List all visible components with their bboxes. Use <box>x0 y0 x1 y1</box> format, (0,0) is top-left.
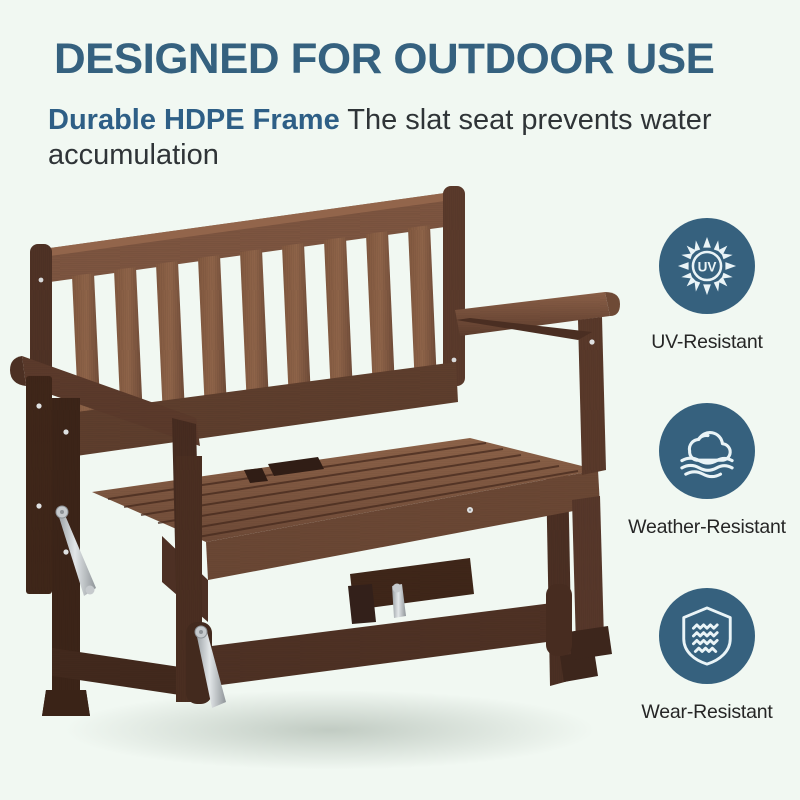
uv-badge-text: UV <box>698 259 717 274</box>
cloud-wind-icon <box>659 403 755 499</box>
uv-sun-icon: UV <box>659 218 755 314</box>
ground-shadow <box>65 690 595 770</box>
feature-label-uv: UV-Resistant <box>607 331 800 354</box>
page-title: DESIGNED FOR OUTDOOR USE <box>54 38 788 81</box>
bench-backrest <box>30 186 465 460</box>
bench-seat <box>92 438 600 622</box>
backrest-right-post <box>443 186 465 386</box>
shield-waves-icon <box>659 588 755 684</box>
product-image-glider-bench <box>0 170 640 770</box>
subheading: Durable HDPE Frame The slat seat prevent… <box>48 103 788 174</box>
subheading-strong: Durable HDPE Frame <box>48 104 340 136</box>
feature-label-wear: Wear-Resistant <box>607 701 800 724</box>
feature-label-weather: Weather-Resistant <box>607 516 800 539</box>
feature-uv-resistant: UV UV-Resistant <box>607 218 800 354</box>
feature-weather-resistant: Weather-Resistant <box>607 403 800 539</box>
feature-wear-resistant: Wear-Resistant <box>607 588 800 724</box>
product-feature-banner: DESIGNED FOR OUTDOOR USE Durable HDPE Fr… <box>0 0 800 800</box>
